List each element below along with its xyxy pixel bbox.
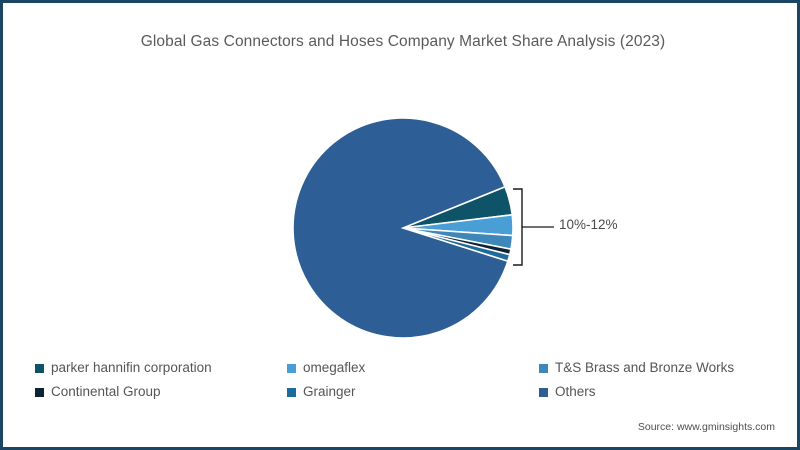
legend-item-label: Grainger — [303, 385, 356, 400]
bracket-path — [513, 189, 522, 265]
legend-item[interactable]: omegaflex — [285, 361, 537, 376]
legend-item-label: Others — [555, 385, 596, 400]
legend-swatch-icon — [539, 364, 548, 373]
legend-item[interactable]: Continental Group — [33, 385, 285, 400]
legend-row: Continental GroupGraingerOthers — [33, 385, 781, 400]
legend-swatch-icon — [287, 388, 296, 397]
legend-swatch-icon — [287, 364, 296, 373]
legend-swatch-icon — [35, 364, 44, 373]
callout-label: 10%-12% — [559, 217, 618, 232]
legend-item[interactable]: Others — [537, 385, 781, 400]
legend-swatch-icon — [35, 388, 44, 397]
legend-item-label: omegaflex — [303, 361, 365, 376]
legend-swatch-icon — [539, 388, 548, 397]
source-note: Source: www.gminsights.com — [638, 421, 775, 433]
legend-item-label: parker hannifin corporation — [51, 361, 212, 376]
legend: parker hannifin corporationomegaflexT&S … — [33, 361, 781, 409]
legend-item[interactable]: parker hannifin corporation — [33, 361, 285, 376]
legend-item[interactable]: T&S Brass and Bronze Works — [537, 361, 781, 376]
callout-bracket — [513, 189, 554, 265]
legend-row: parker hannifin corporationomegaflexT&S … — [33, 361, 781, 376]
legend-item[interactable]: Grainger — [285, 385, 537, 400]
chart-card: Global Gas Connectors and Hoses Company … — [0, 0, 800, 450]
legend-item-label: T&S Brass and Bronze Works — [555, 361, 734, 376]
legend-item-label: Continental Group — [51, 385, 161, 400]
pie-slice-group — [293, 118, 513, 338]
